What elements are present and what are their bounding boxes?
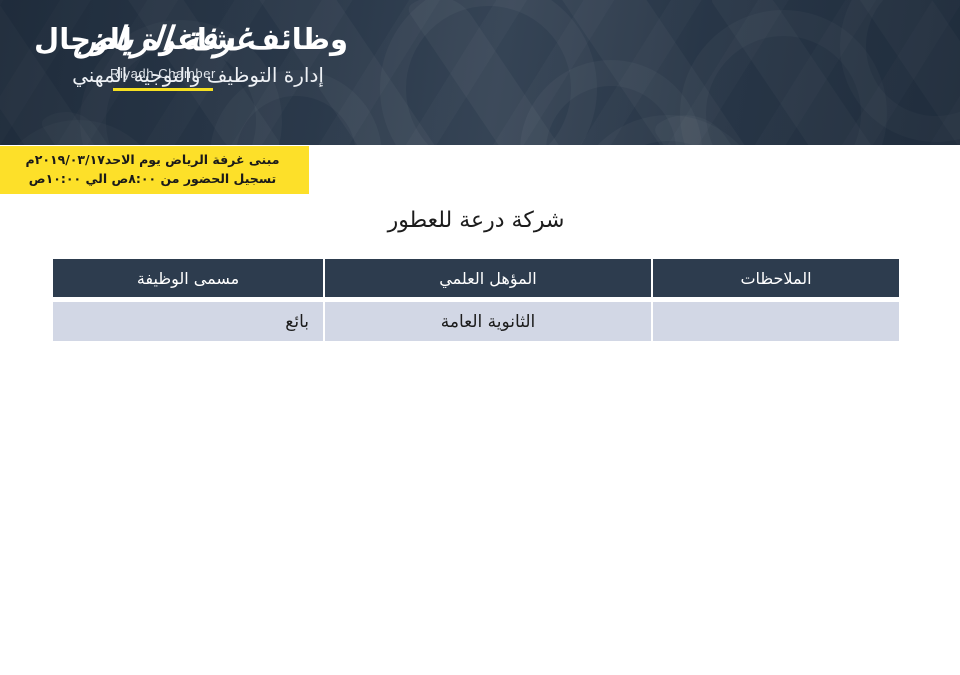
event-registration-time-line: تسجيل الحضور من ٨:٠٠ص الي ١٠:٠٠ص — [10, 169, 295, 188]
vacancies-table: الملاحظات المؤهل العلمي مسمى الوظيفة الث… — [53, 259, 899, 341]
logo-underline-rule — [113, 88, 213, 91]
column-header-notes: الملاحظات — [651, 259, 899, 302]
logo-arabic-wordmark: غرفة الرياض — [66, 18, 260, 59]
page-header: وظائف شاغرة للرجال إدارة التوظيف والتوجي… — [0, 0, 960, 145]
column-header-job-title: مسمى الوظيفة — [53, 259, 323, 302]
logo-latin-wordmark: Riyadh Chamber — [68, 66, 258, 81]
cell-job-title: بائع — [53, 302, 323, 341]
cell-notes — [651, 302, 899, 341]
cell-qualification: الثانوية العامة — [323, 302, 651, 341]
event-venue-date-line: مبنى غرفة الرياض يوم الاحد٢٠١٩/٠٣/١٧م — [10, 150, 295, 169]
riyadh-chamber-logo: غرفة الرياض Riyadh Chamber — [68, 18, 258, 91]
company-name-heading: شركة درعة للعطور — [53, 208, 899, 233]
event-info-banner: مبنى غرفة الرياض يوم الاحد٢٠١٩/٠٣/١٧م تس… — [0, 146, 309, 194]
table-header-row: الملاحظات المؤهل العلمي مسمى الوظيفة — [53, 259, 899, 302]
column-header-qualification: المؤهل العلمي — [323, 259, 651, 302]
table-row: الثانوية العامة بائع — [53, 302, 899, 341]
